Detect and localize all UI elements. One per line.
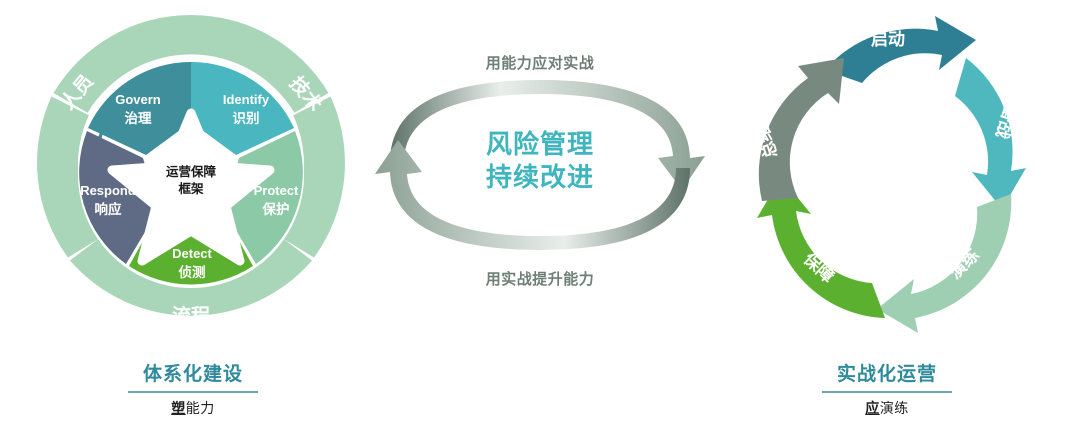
cycle-step-drill[interactable]: [877, 194, 1011, 333]
framework-caption-sub-rest: 能力: [186, 400, 215, 416]
cycle-step-prepare[interactable]: [955, 58, 1026, 209]
risk-management-loop: 用能力应对实战 风险管理 持续改进: [370, 0, 710, 429]
function-label-identify-cn: 识别: [233, 111, 260, 126]
function-label-govern-cn: 治理: [125, 110, 152, 126]
ring-label-process: 流程: [172, 304, 210, 327]
operations-caption: 实战化运营 应演练: [712, 364, 1062, 418]
operations-caption-title: 实战化运营: [712, 364, 1062, 387]
framework-caption-sub-key: 塑: [171, 400, 186, 416]
core-label-line2: 框架: [178, 181, 204, 196]
operations-caption-sub-key: 应: [865, 400, 880, 416]
loop-core-line2: 持续改进: [370, 161, 710, 194]
operations-cycle-wheel: 启动 备战 演练 保障 总结: [722, 0, 1052, 355]
framework-panel: 人员 技术 流程 运营保障 框架: [18, 0, 368, 429]
operations-caption-sub: 应演练: [712, 398, 1062, 418]
function-label-protect-en: Protect: [254, 183, 299, 198]
loop-core-text: 风险管理 持续改进: [370, 128, 710, 193]
framework-caption: 体系化建设 塑能力: [18, 364, 368, 418]
function-label-detect-cn: 侦测: [179, 264, 206, 280]
core-label-line1: 运营保障: [166, 164, 217, 179]
framework-caption-title: 体系化建设: [18, 364, 368, 387]
framework-caption-sub: 塑能力: [18, 398, 368, 418]
loop-core-line1: 风险管理: [370, 128, 710, 161]
framework-caption-rule: [128, 391, 258, 393]
loop-label-bottom: 用实战提升能力: [370, 268, 710, 289]
function-label-respond-en: Respond: [80, 183, 136, 198]
function-label-identify-en: Identify: [223, 92, 270, 107]
function-label-respond-cn: 响应: [95, 201, 122, 217]
security-framework-wheel: 人员 技术 流程 运营保障 框架: [26, 10, 356, 340]
function-label-detect-en: Detect: [172, 246, 212, 261]
diagram-canvas: 人员 技术 流程 运营保障 框架: [0, 0, 1080, 429]
operations-caption-rule: [822, 391, 952, 393]
cycle-step-start[interactable]: [825, 16, 976, 83]
function-label-govern-en: Govern: [115, 92, 161, 107]
function-label-protect-cn: 保护: [262, 201, 290, 217]
cycle-label-start: 启动: [871, 29, 905, 49]
operations-cycle-panel: 启动 备战 演练 保障 总结 实战化运营: [712, 0, 1062, 429]
operations-caption-sub-rest: 演练: [880, 400, 909, 416]
